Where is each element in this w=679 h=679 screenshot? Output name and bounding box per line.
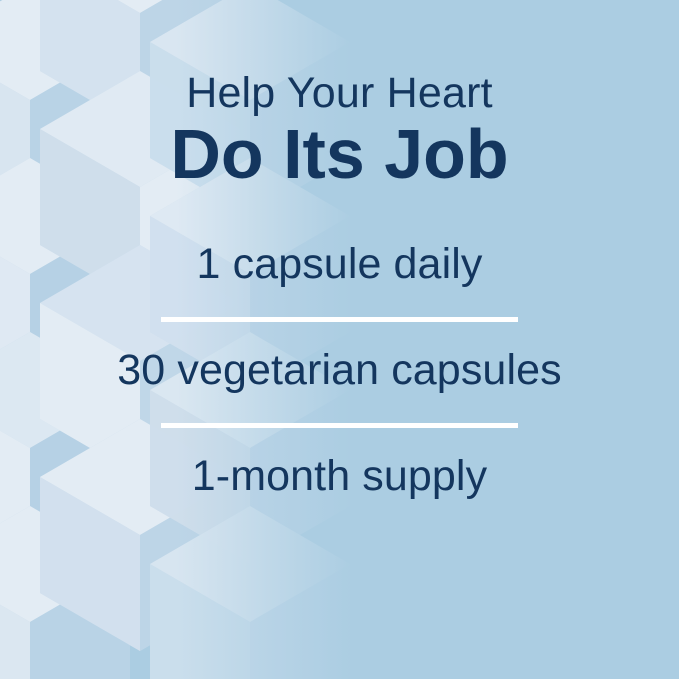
fact-count: 30 vegetarian capsules [117, 349, 561, 392]
headline-block: Help Your Heart Do Its Job [170, 72, 508, 189]
fact-dosage: 1 capsule daily [197, 243, 483, 286]
product-info-graphic: Help Your Heart Do Its Job 1 capsule dai… [0, 0, 679, 679]
fact-supply-duration: 1-month supply [192, 455, 487, 498]
headline-line-2: Do Its Job [170, 119, 508, 189]
content-stack: Help Your Heart Do Its Job 1 capsule dai… [0, 0, 679, 679]
headline-line-1: Help Your Heart [170, 72, 508, 115]
divider-2 [161, 423, 518, 428]
divider-1 [161, 317, 518, 322]
